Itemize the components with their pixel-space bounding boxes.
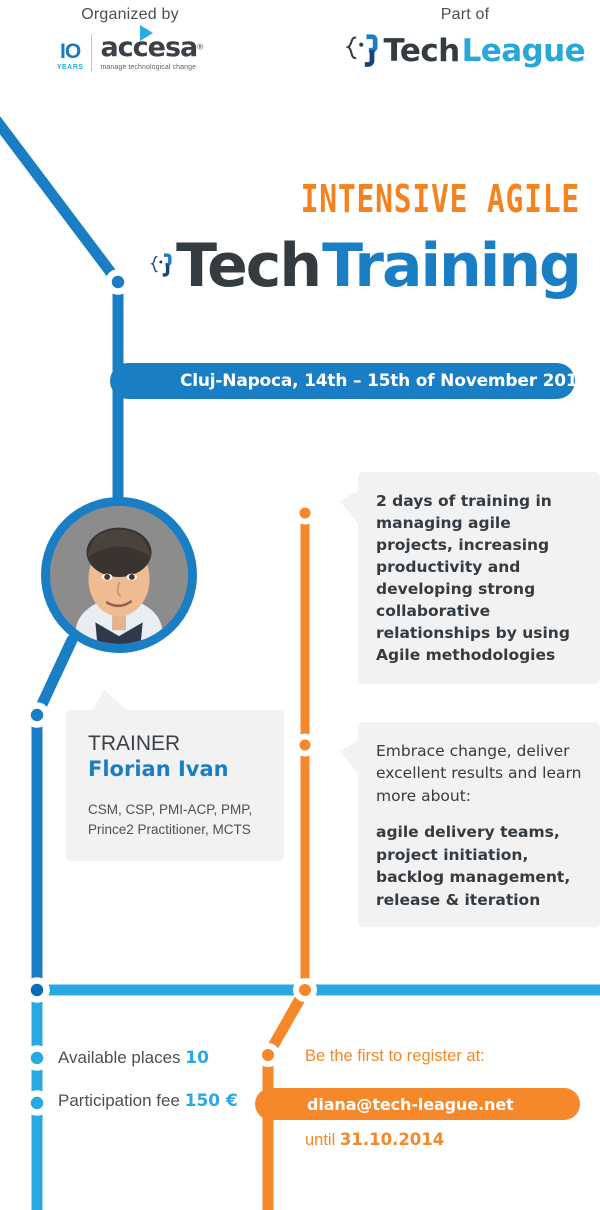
register-heading: Be the first to register at: bbox=[305, 1047, 485, 1066]
available-places-label: Available places bbox=[58, 1048, 181, 1067]
brace-face-icon bbox=[150, 226, 174, 306]
metro-node bbox=[259, 1046, 277, 1064]
register-deadline-date: 31.10.2014 bbox=[340, 1130, 444, 1149]
callout-topics: Embrace change, deliver excellent result… bbox=[358, 722, 600, 927]
metro-node bbox=[297, 505, 314, 522]
participation-fee-value: 150 € bbox=[185, 1091, 238, 1111]
accesa-logo: IO YEARS accesa® manage technological ch… bbox=[20, 34, 240, 71]
trainer-label: TRAINER bbox=[88, 732, 268, 756]
accesa-years-label: YEARS bbox=[57, 64, 84, 71]
organized-by-block: Organized by IO YEARS accesa® manage tec… bbox=[20, 6, 240, 71]
trainer-avatar bbox=[41, 497, 197, 653]
register-deadline-prefix: until bbox=[305, 1131, 340, 1149]
participation-fee-row: Participation fee 150 € bbox=[58, 1091, 238, 1111]
register-email-pill[interactable]: diana@tech-league.net bbox=[255, 1088, 580, 1120]
organized-by-caption: Organized by bbox=[20, 6, 240, 24]
callout-trainer: TRAINER Florian Ivan CSM, CSP, PMI-ACP, … bbox=[66, 710, 284, 861]
trainer-name: Florian Ivan bbox=[88, 757, 268, 782]
title-training: Training bbox=[322, 236, 580, 296]
callout-topics-list: agile delivery teams, project initiation… bbox=[376, 821, 588, 911]
accesa-ten-number: IO bbox=[60, 41, 80, 62]
accesa-divider bbox=[91, 34, 92, 71]
poster: Organized by IO YEARS accesa® manage tec… bbox=[0, 0, 600, 1210]
callout-summary: 2 days of training in managing agile pro… bbox=[358, 472, 600, 684]
title-tech: Tech bbox=[176, 236, 320, 296]
title-kicker: INTENSIVE AGILE bbox=[245, 180, 580, 218]
accesa-wordmark: accesa® manage technological change bbox=[100, 34, 203, 71]
part-of-caption: Part of bbox=[345, 6, 585, 24]
part-of-block: Part of TechLeague bbox=[345, 6, 585, 72]
date-location-text: Cluj-Napoca, 14th – 15th of November 201… bbox=[180, 371, 589, 391]
techleague-logo: TechLeague bbox=[345, 30, 585, 72]
play-triangle-icon bbox=[140, 25, 153, 41]
metro-node bbox=[297, 737, 314, 754]
brace-face-icon bbox=[345, 30, 382, 72]
metro-node bbox=[28, 1049, 47, 1068]
callout-summary-text: 2 days of training in managing agile pro… bbox=[376, 490, 586, 666]
techtraining-logo: TechTraining bbox=[150, 226, 580, 306]
callout-topics-lead: Embrace change, deliver excellent result… bbox=[376, 740, 588, 807]
register-deadline: until 31.10.2014 bbox=[305, 1130, 444, 1150]
available-places-row: Available places 10 bbox=[58, 1048, 209, 1068]
callout-tail bbox=[340, 740, 359, 775]
accesa-ten-years: IO YEARS bbox=[57, 41, 84, 71]
poster-header: Organized by IO YEARS accesa® manage tec… bbox=[0, 0, 600, 100]
metro-node bbox=[28, 706, 47, 725]
register-email[interactable]: diana@tech-league.net bbox=[307, 1095, 514, 1114]
metro-node bbox=[296, 981, 314, 999]
techleague-tech: Tech bbox=[384, 33, 460, 69]
metro-node bbox=[28, 981, 47, 1000]
trainer-credentials: CSM, CSP, PMI-ACP, PMP, Prince2 Practiti… bbox=[88, 800, 268, 839]
date-location-banner: Cluj-Napoca, 14th – 15th of November 201… bbox=[110, 363, 575, 399]
accesa-tagline: manage technological change bbox=[100, 64, 196, 71]
callout-tail bbox=[340, 490, 359, 525]
metro-node bbox=[28, 1094, 47, 1113]
callout-tail bbox=[92, 690, 128, 711]
techleague-league: League bbox=[462, 33, 585, 69]
metro-node bbox=[109, 273, 128, 292]
available-places-value: 10 bbox=[185, 1048, 209, 1068]
trainer-photo bbox=[50, 506, 188, 644]
registered-mark-icon: ® bbox=[197, 43, 203, 52]
participation-fee-label: Participation fee bbox=[58, 1091, 180, 1110]
title-block: INTENSIVE AGILE TechTraining bbox=[150, 180, 580, 306]
